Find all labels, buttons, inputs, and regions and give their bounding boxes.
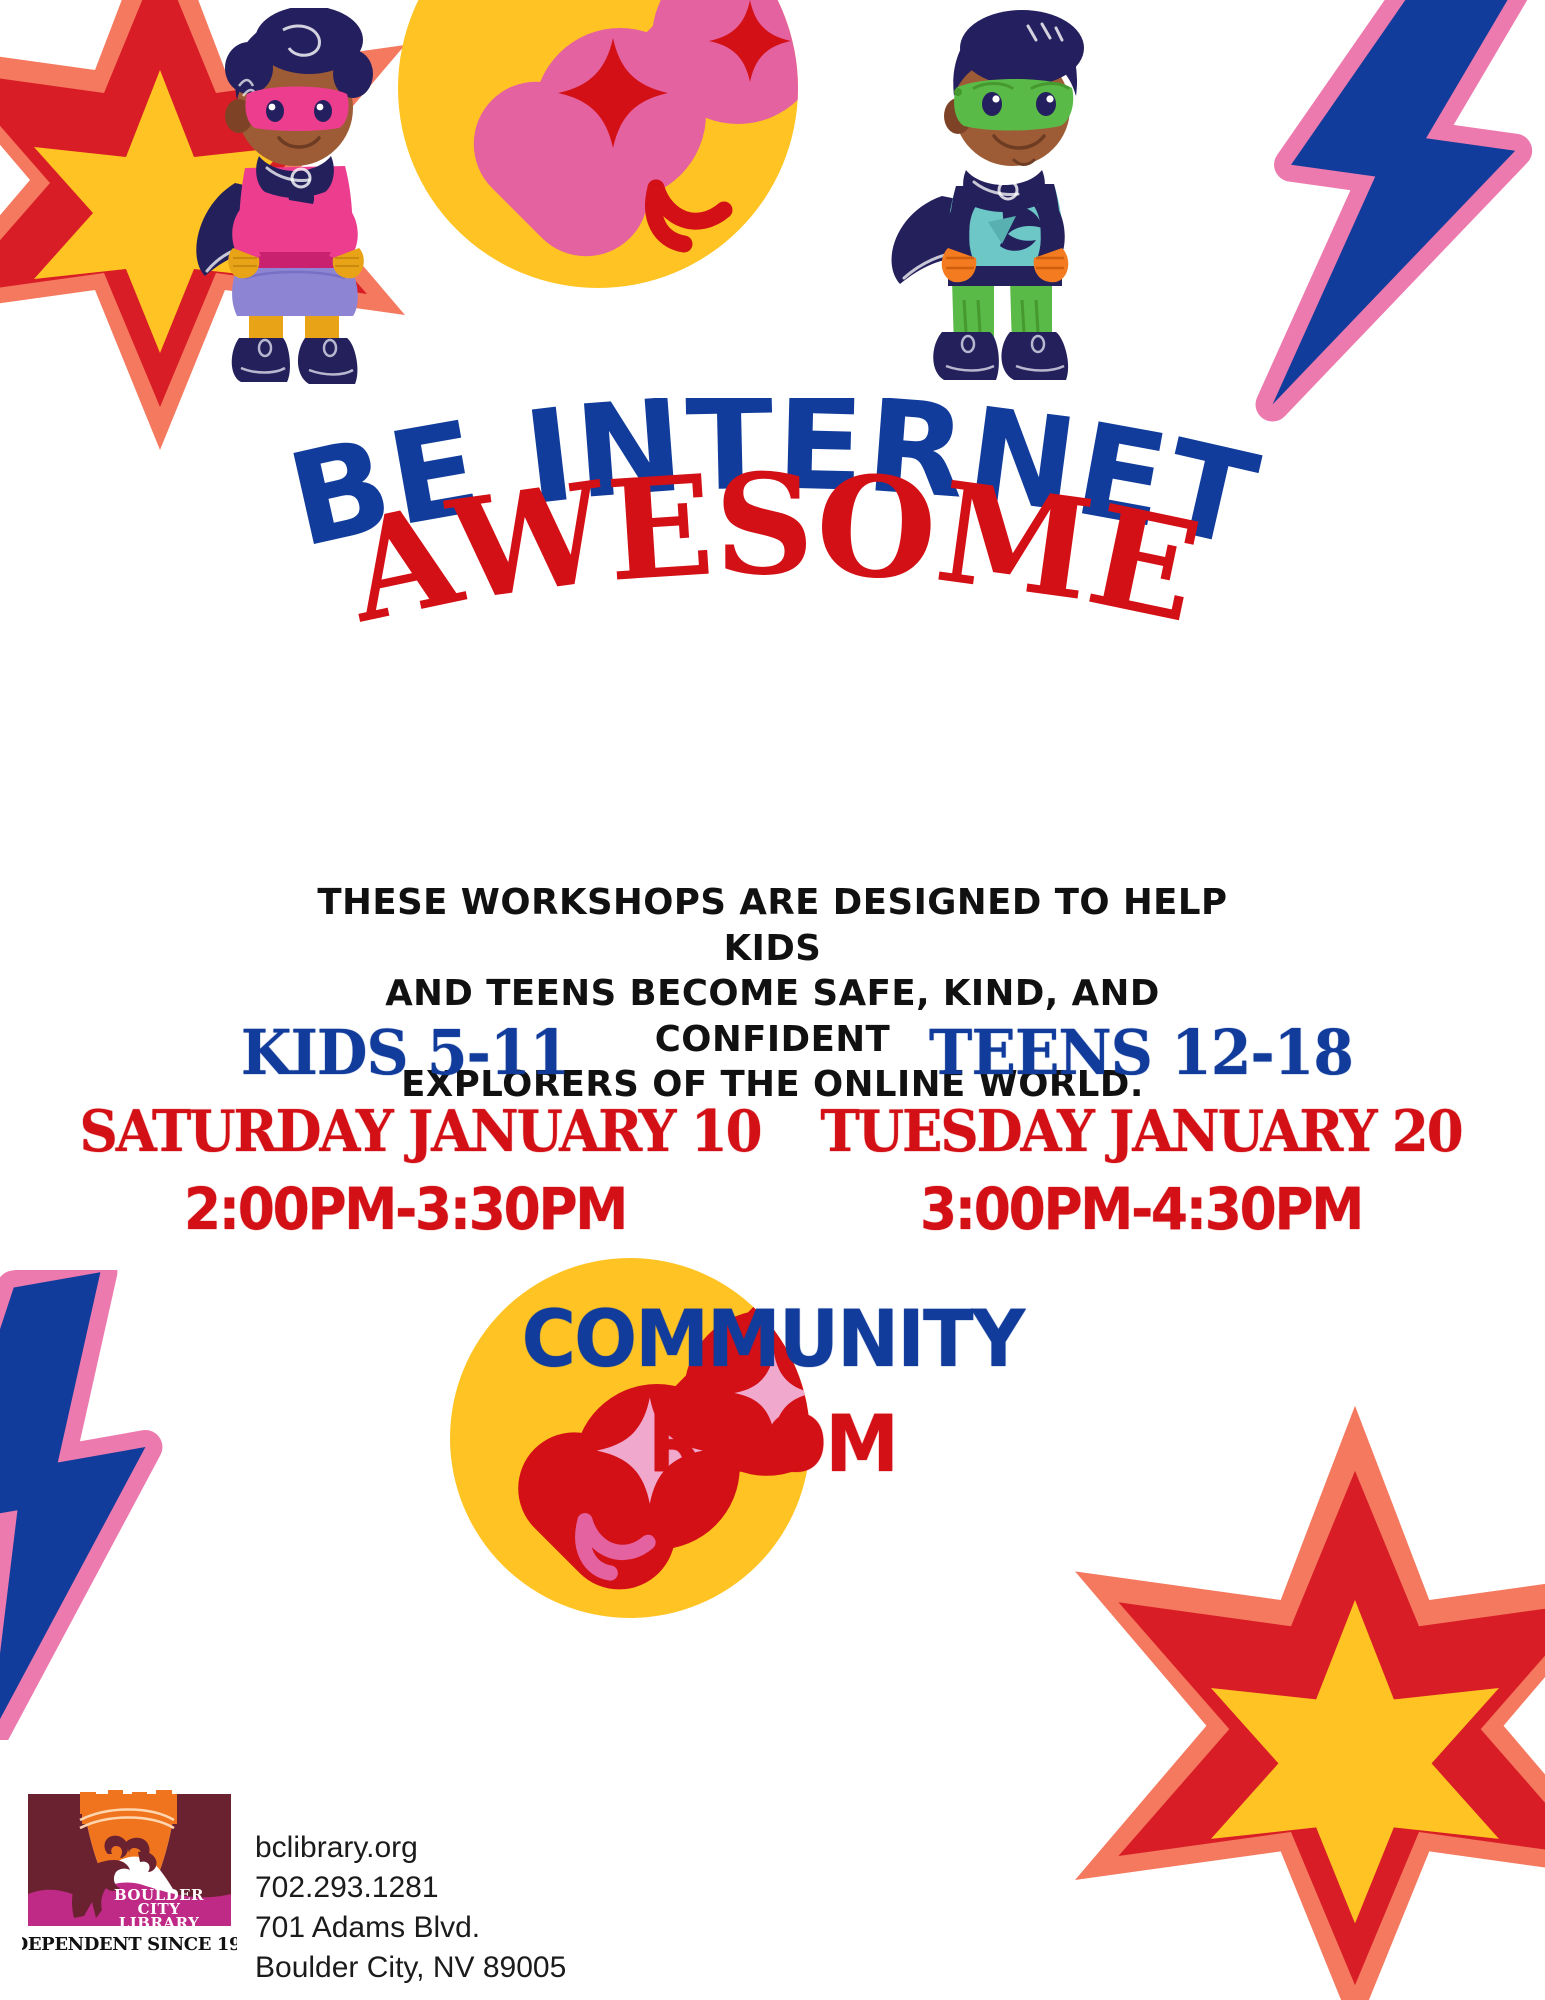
contact-website[interactable]: bclibrary.org bbox=[255, 1828, 566, 1868]
contact-city-state-zip: Boulder City, NV 89005 bbox=[255, 1948, 566, 1988]
session-kids-age: KIDS 5-11 bbox=[76, 1022, 734, 1084]
star-burst-bottom-right-icon bbox=[1035, 1400, 1545, 2000]
sessions-row: KIDS 5-11 SATURDAY JANUARY 10 2:00PM-3:3… bbox=[0, 1022, 1545, 1242]
superhero-girl-character bbox=[183, 8, 423, 408]
logo-tagline: INDEPENDENT SINCE 1943 bbox=[22, 1934, 237, 1955]
title-line-2: AWESOME bbox=[332, 443, 1211, 655]
session-teens-date: TUESDAY JANUARY 20 bbox=[815, 1100, 1466, 1164]
location-block: COMMUNITY ROOM bbox=[0, 1300, 1545, 1486]
session-teens: TEENS 12-18 TUESDAY JANUARY 20 3:00PM-4:… bbox=[791, 1022, 1491, 1242]
location-line-2: ROOM bbox=[39, 1405, 1507, 1486]
session-kids-time: 2:00PM-3:30PM bbox=[83, 1178, 727, 1242]
emoji-sparkle-mask-top-icon bbox=[398, 0, 798, 288]
star-burst-top-left-icon bbox=[0, 0, 440, 455]
page-title: BE INTERNET AWESOME bbox=[0, 398, 1545, 678]
session-kids: KIDS 5-11 SATURDAY JANUARY 10 2:00PM-3:3… bbox=[55, 1022, 755, 1242]
title-artwork: BE INTERNET AWESOME bbox=[173, 398, 1373, 668]
poster-canvas: BE INTERNET AWESOME THESE WORKSHOPS ARE … bbox=[0, 0, 1545, 2000]
logo-name-line-3: LIBRARY bbox=[119, 1914, 200, 1932]
session-kids-date: SATURDAY JANUARY 10 bbox=[79, 1100, 730, 1164]
session-teens-time: 3:00PM-4:30PM bbox=[819, 1178, 1463, 1242]
contact-phone[interactable]: 702.293.1281 bbox=[255, 1868, 566, 1908]
boulder-city-library-logo-icon: BOULDER CITY LIBRARY INDEPENDENT SINCE 1… bbox=[22, 1790, 237, 1960]
contact-info: bclibrary.org 702.293.1281 701 Adams Blv… bbox=[255, 1790, 566, 1988]
contact-address: 701 Adams Blvd. bbox=[255, 1908, 566, 1948]
lightning-bolt-top-right-icon bbox=[1235, 0, 1545, 430]
superhero-boy-character bbox=[870, 0, 1120, 400]
footer: BOULDER CITY LIBRARY INDEPENDENT SINCE 1… bbox=[22, 1790, 566, 1988]
library-logo: BOULDER CITY LIBRARY INDEPENDENT SINCE 1… bbox=[22, 1790, 237, 1965]
location-line-1: COMMUNITY bbox=[39, 1300, 1507, 1381]
session-teens-age: TEENS 12-18 bbox=[812, 1022, 1470, 1084]
